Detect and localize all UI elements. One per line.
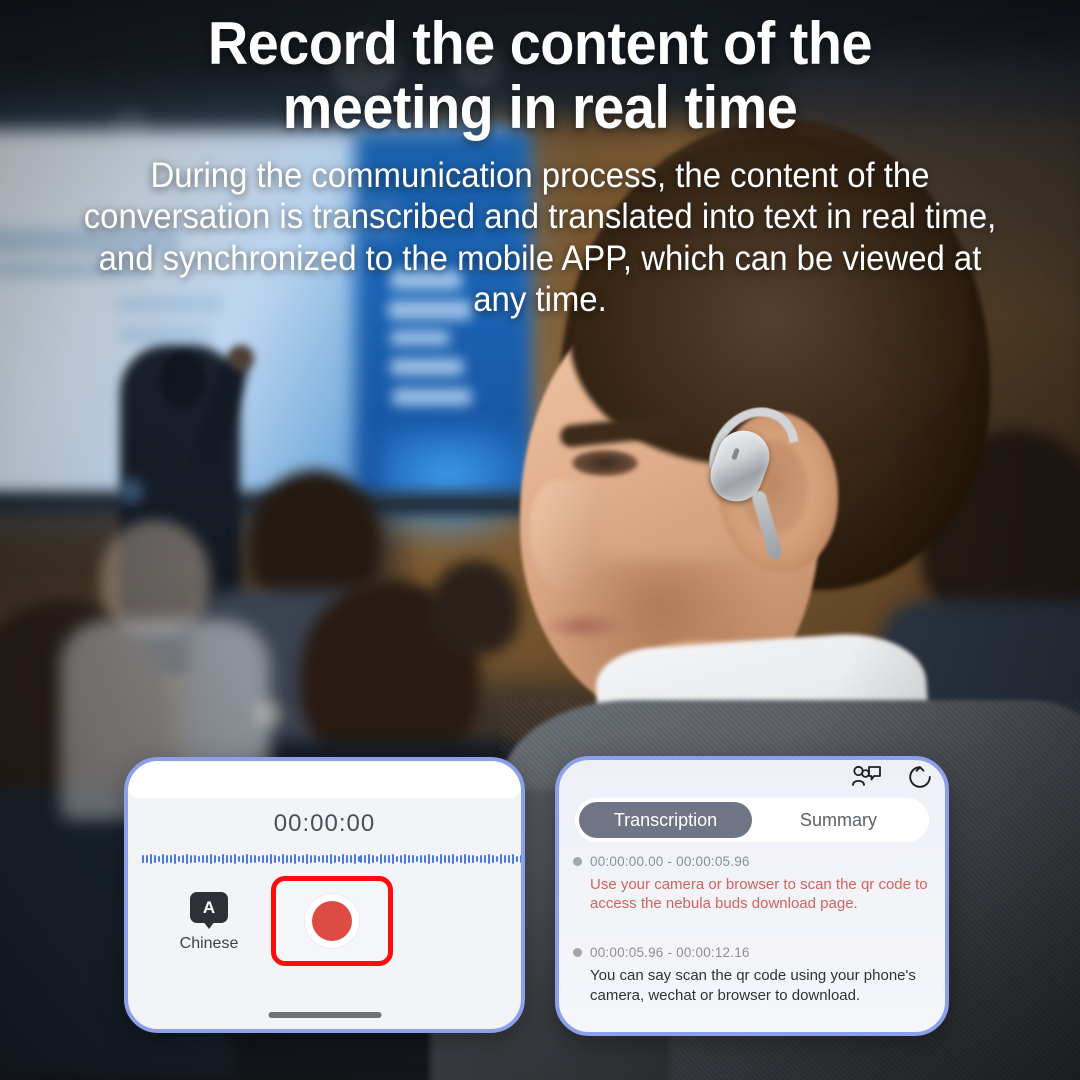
- transcription-phone-card: Transcription Summary 00:00:00.00 - 00:0…: [555, 756, 949, 1036]
- tab-transcription[interactable]: Transcription: [579, 802, 752, 838]
- transcription-entry[interactable]: 00:00:00.00 - 00:00:05.96 Use your camer…: [573, 854, 931, 913]
- transcription-header-icons: [851, 764, 933, 790]
- entry-spacer: [573, 919, 931, 945]
- speaker-identification-icon[interactable]: [851, 765, 881, 789]
- hero-subtitle: During the communication process, the co…: [70, 155, 1010, 320]
- language-label: Chinese: [176, 935, 242, 953]
- transcription-header: [559, 760, 945, 796]
- waveform-row: [142, 854, 507, 864]
- headline-line-1: Record the content of the: [149, 12, 930, 76]
- transcription-entry-time-row: 00:00:05.96 - 00:00:12.16: [573, 945, 931, 960]
- headline-line-2: meeting in real time: [149, 76, 930, 140]
- transcription-entry[interactable]: 00:00:05.96 - 00:00:12.16 You can say sc…: [573, 945, 931, 1004]
- waveform-left: [142, 854, 360, 864]
- record-dot-icon: [312, 901, 352, 941]
- transcription-tab-bar: Transcription Summary: [575, 798, 929, 842]
- waveform-right: [360, 854, 525, 864]
- bullet-icon: [573, 857, 582, 866]
- record-button[interactable]: [305, 894, 359, 948]
- hero-text-block: Record the content of the meeting in rea…: [0, 12, 1080, 320]
- record-button-highlight: [271, 876, 393, 966]
- home-indicator: [268, 1012, 381, 1018]
- language-selector[interactable]: A Chinese: [176, 892, 242, 953]
- page-title: Record the content of the meeting in rea…: [149, 12, 930, 139]
- transcription-text: You can say scan the qr code using your …: [590, 966, 931, 1004]
- recorder-status-bar: [127, 760, 522, 798]
- recording-timer: 00:00:00: [128, 810, 521, 838]
- refresh-icon[interactable]: [907, 764, 933, 790]
- recorder-controls: A Chinese: [128, 870, 521, 990]
- transcription-entry-time-row: 00:00:00.00 - 00:00:05.96: [573, 854, 931, 869]
- bullet-icon: [573, 948, 582, 957]
- transcription-text: Use your camera or browser to scan the q…: [590, 875, 931, 913]
- language-badge-icon: A: [190, 892, 228, 923]
- transcription-timestamp: 00:00:00.00 - 00:00:05.96: [590, 854, 750, 869]
- recorder-phone-card: 00:00:00 A Chinese: [124, 757, 525, 1033]
- tab-summary[interactable]: Summary: [752, 802, 925, 838]
- transcription-entry-list: 00:00:00.00 - 00:00:05.96 Use your camer…: [573, 854, 931, 1005]
- transcription-timestamp: 00:00:05.96 - 00:00:12.16: [590, 945, 750, 960]
- promo-banner: Record the content of the meeting in rea…: [0, 0, 1080, 1080]
